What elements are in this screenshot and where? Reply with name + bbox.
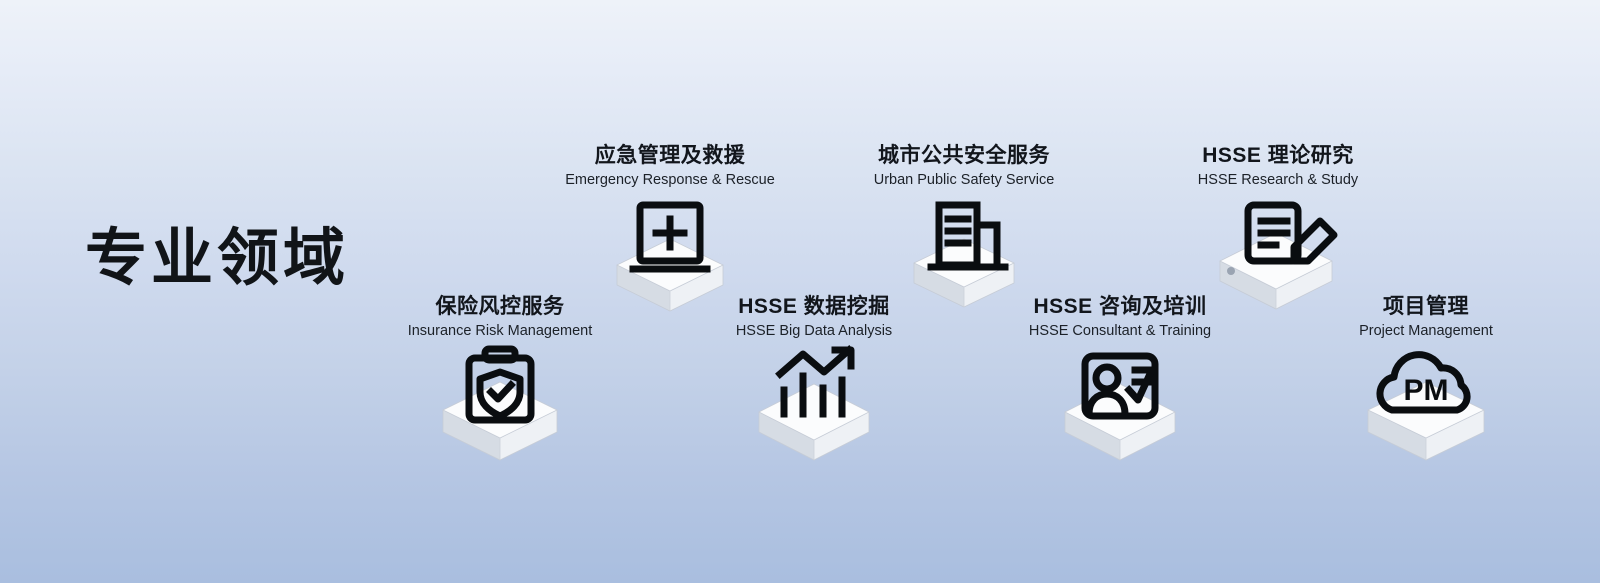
domain-title-cn-emergency-response: 应急管理及救援 xyxy=(520,144,820,168)
domain-art-insurance-risk xyxy=(350,348,650,468)
domain-art-hsse-big-data xyxy=(664,348,964,468)
domain-card-hsse-consultant[interactable]: HSSE 咨询及培训 HSSE Consultant & Training xyxy=(970,295,1270,468)
domain-title-en-urban-public-safety: Urban Public Safety Service xyxy=(814,171,1114,190)
domain-title-cn-urban-public-safety: 城市公共安全服务 xyxy=(814,144,1114,168)
domain-title-cn-hsse-big-data: HSSE 数据挖掘 xyxy=(664,295,964,319)
domain-title-cn-hsse-consultant: HSSE 咨询及培训 xyxy=(970,295,1270,319)
first-aid-kit-icon xyxy=(633,205,707,269)
professional-domains-banner: 专业领域 应急管理及救援 Emergency Response & Rescue xyxy=(0,0,1600,583)
svg-text:PM: PM xyxy=(1404,374,1449,407)
domain-title-en-emergency-response: Emergency Response & Rescue xyxy=(520,171,820,190)
domain-title-en-hsse-research: HSSE Research & Study xyxy=(1128,171,1428,190)
domain-title-cn-project-management: 项目管理 xyxy=(1276,295,1576,319)
domain-card-hsse-research[interactable]: HSSE 理论研究 HSSE Research & Study xyxy=(1128,144,1428,319)
domain-art-hsse-consultant xyxy=(970,348,1270,468)
domain-card-urban-public-safety[interactable]: 城市公共安全服务 Urban Public Safety Service xyxy=(814,144,1114,319)
domain-title-en-project-management: Project Management xyxy=(1276,322,1576,341)
domain-title-en-insurance-risk: Insurance Risk Management xyxy=(350,322,650,341)
domain-title-cn-insurance-risk: 保险风控服务 xyxy=(350,295,650,319)
domain-card-insurance-risk[interactable]: 保险风控服务 Insurance Risk Management xyxy=(350,295,650,468)
pedestal-hsse-big-data xyxy=(759,384,869,460)
domain-card-project-management[interactable]: 项目管理 Project Management PM xyxy=(1276,295,1576,468)
domain-title-cn-hsse-research: HSSE 理论研究 xyxy=(1128,144,1428,168)
domain-art-project-management: PM xyxy=(1276,348,1576,468)
domain-card-emergency-response[interactable]: 应急管理及救援 Emergency Response & Rescue xyxy=(520,144,820,319)
page-title: 专业领域 xyxy=(85,228,349,290)
domain-title-en-hsse-consultant: HSSE Consultant & Training xyxy=(970,322,1270,341)
domain-card-hsse-big-data[interactable]: HSSE 数据挖掘 HSSE Big Data Analysis xyxy=(664,295,964,468)
domain-title-en-hsse-big-data: HSSE Big Data Analysis xyxy=(664,322,964,341)
